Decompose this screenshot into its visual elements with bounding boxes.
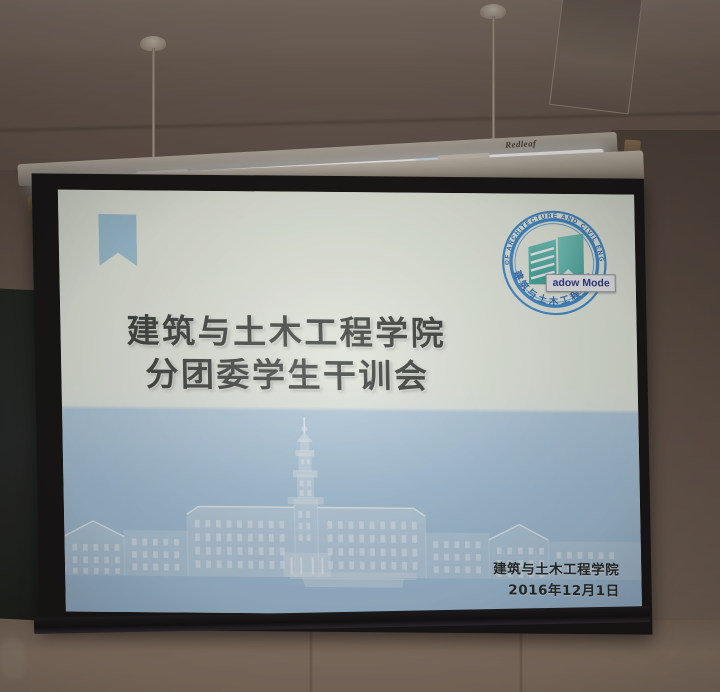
- redleaf-brand-label: Redleaf: [505, 138, 537, 150]
- bookmark-ribbon-icon: [98, 214, 137, 266]
- slide-title-block: 建筑与土木工程学院 分团委学生干训会: [126, 310, 558, 400]
- school-seal-logo: SCHOOL OF ARCHITECTURE AND CIVIL ENGINEE…: [494, 203, 614, 322]
- projector-screen-assembly: SCHOOL OF ARCHITECTURE AND CIVIL ENGINEE…: [36, 168, 648, 636]
- presentation-slide: SCHOOL OF ARCHITECTURE AND CIVIL ENGINEE…: [58, 190, 642, 617]
- slide-title-line-1: 建筑与土木工程学院: [126, 310, 557, 357]
- wall-seam-left: [310, 628, 312, 692]
- shadow-mode-tooltip[interactable]: adow Mode: [545, 274, 616, 293]
- hanging-rod-left: [152, 48, 155, 168]
- screen-surface: SCHOOL OF ARCHITECTURE AND CIVIL ENGINEE…: [58, 190, 642, 617]
- slide-title-line-2: 分团委学生干训会: [127, 353, 558, 400]
- screen-frame: SCHOOL OF ARCHITECTURE AND CIVIL ENGINEE…: [32, 173, 653, 634]
- hanging-rod-right: [492, 16, 495, 152]
- classroom-photo: Redleaf: [0, 0, 720, 692]
- ceiling-vent-panel: [549, 0, 643, 114]
- slide-footer: 建筑与土木工程学院 2016年12月1日: [493, 559, 620, 602]
- blackboard-smudge: [0, 638, 26, 679]
- footer-date: 2016年12月1日: [493, 580, 619, 602]
- wall-seam-right: [520, 628, 522, 692]
- footer-organization: 建筑与土木工程学院: [493, 559, 619, 581]
